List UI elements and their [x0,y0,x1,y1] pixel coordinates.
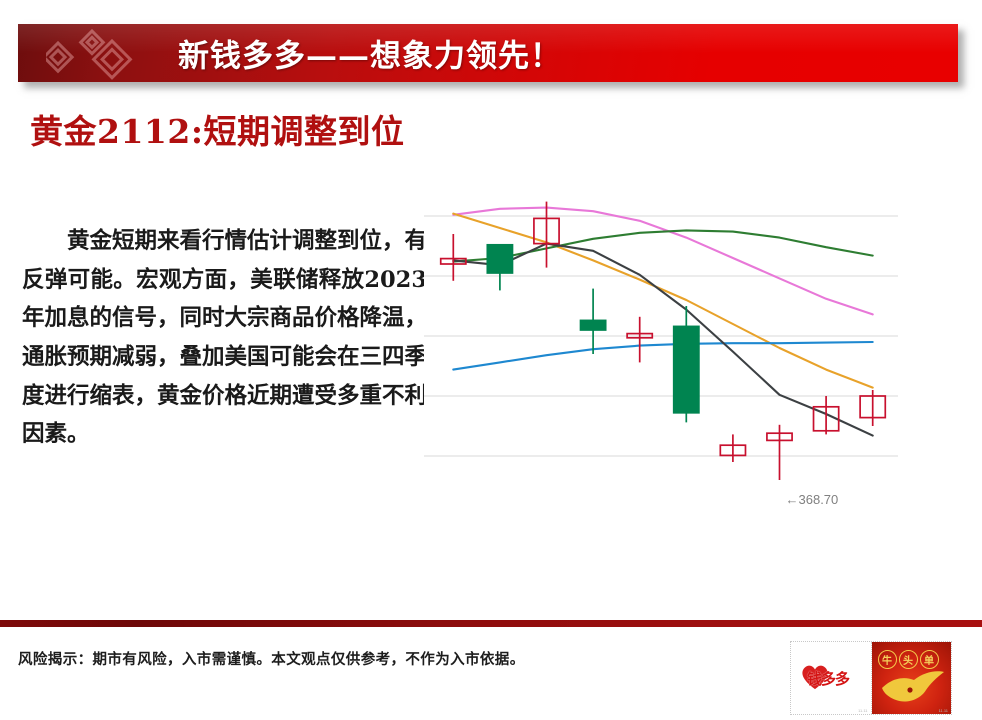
footer-divider [0,620,982,627]
stamp-char-3: 单 [920,650,939,669]
footer-logo: 钱多多 11.11 牛 头 单 11.11 [790,641,952,715]
stamp-qianduoduo: 钱多多 11.11 [791,642,872,714]
moving-average-lines [453,208,872,436]
header-title: 新钱多多——想象力领先！ [178,31,562,76]
stamp-char-1: 牛 [878,650,897,669]
body-paragraph: 黄金短期来看行情估计调整到位，有反弹可能。宏观方面，美联储释放2023年加息的信… [22,222,427,454]
stamp-char-2: 头 [899,650,918,669]
candlestick-series [441,202,886,480]
page-title: 黄金2112:短期调整到位 [30,110,425,154]
stamp-caption-right: 11.11 [939,708,948,713]
candlestick-chart: ←368.70 [424,176,898,526]
chart-canvas: ←368.70 [424,176,898,526]
disclaimer-text: 风险揭示：期市有风险，入市需谨慎。本文观点仅供参考，不作为入市依据。 [18,648,778,669]
stamp-niutoudan: 牛 头 单 11.11 [872,642,952,714]
stamp-caption-left: 11.11 [858,708,867,713]
chinese-knot-diamond-icon [46,27,161,81]
svg-text:←368.70: ←368.70 [786,492,839,507]
header-banner: 新钱多多——想象力领先！ [18,24,958,82]
stamp-qianduoduo-label: 钱多多 [807,668,867,689]
price-annotation: ←368.70 [786,492,839,507]
bull-icon [878,668,946,708]
